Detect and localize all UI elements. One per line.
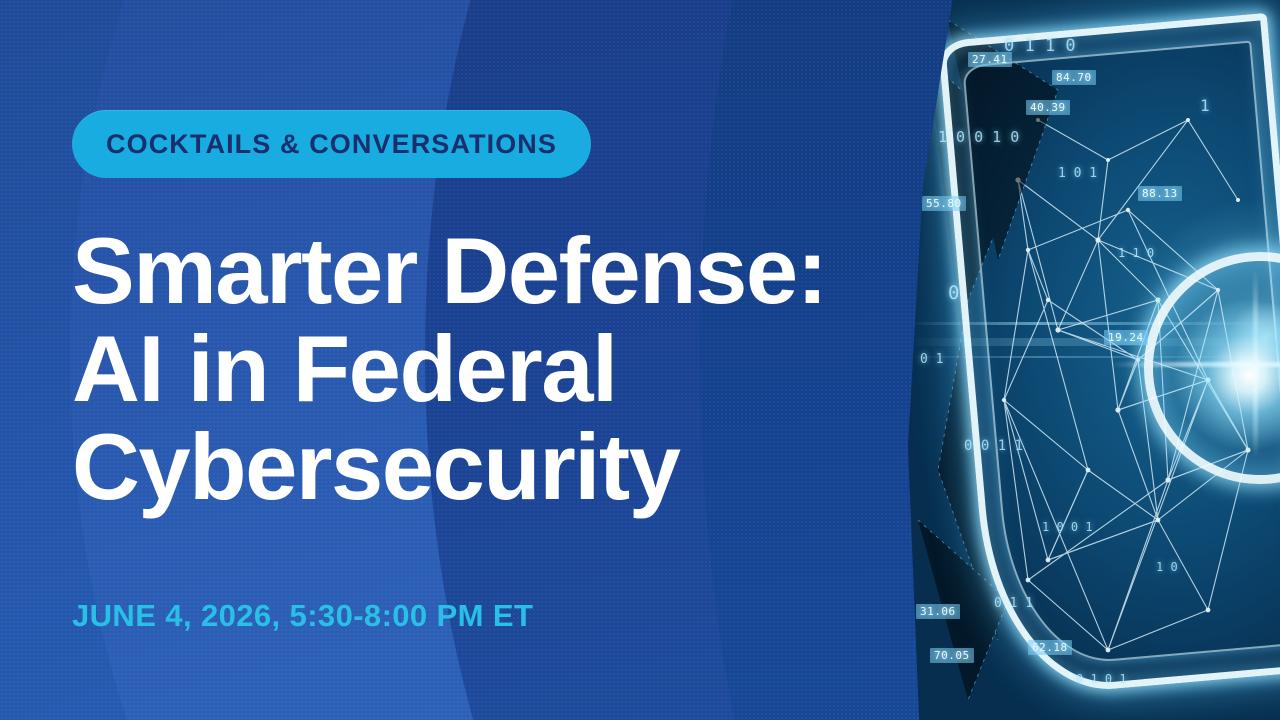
banner-content: COCKTAILS & CONVERSATIONS Smarter Defens…	[72, 0, 892, 720]
event-banner: 40.3984.7070.0562.1819.2455.8031.0627.41…	[0, 0, 1280, 720]
binary-mark: 1 0 1	[1058, 166, 1097, 181]
binary-mark: 0 1 1	[994, 596, 1033, 611]
eyebrow-label: COCKTAILS & CONVERSATIONS	[106, 129, 557, 160]
data-chip: 31.06	[916, 604, 960, 619]
binary-mark: 1 0	[1156, 560, 1178, 574]
data-chip: 40.39	[1026, 100, 1070, 115]
binary-mark: 0	[948, 282, 959, 304]
binary-mark: 0 0 1 1	[964, 438, 1023, 454]
event-date-time: JUNE 4, 2026, 5:30-8:00 PM ET	[72, 598, 533, 634]
headline-line-2: AI in Federal	[72, 320, 932, 418]
data-chip: 19.24	[1104, 330, 1148, 345]
cyber-shield-artwork: 40.3984.7070.0562.1819.2455.8031.0627.41…	[908, 0, 1280, 720]
binary-mark: 0 1 0 1	[1076, 672, 1127, 686]
binary-mark: 1 1 0	[1118, 246, 1154, 260]
headline-line-1: Smarter Defense:	[72, 222, 932, 320]
binary-mark: 1 0 0 1	[1042, 520, 1093, 534]
data-chip: 84.70	[1052, 70, 1096, 85]
binary-mark: 1	[1200, 96, 1210, 115]
eyebrow-badge: COCKTAILS & CONVERSATIONS	[72, 110, 591, 178]
binary-mark: 0 1 1 0	[1004, 36, 1076, 56]
data-chip: 88.13	[1138, 186, 1182, 201]
page-title: Smarter Defense: AI in Federal Cybersecu…	[72, 222, 932, 516]
data-chip: 62.18	[1028, 640, 1072, 655]
data-chip: 55.80	[922, 196, 966, 211]
binary-mark: 1 0 0 1 0	[938, 128, 1019, 146]
data-chip: 70.05	[930, 648, 974, 663]
headline-line-3: Cybersecurity	[72, 418, 932, 516]
